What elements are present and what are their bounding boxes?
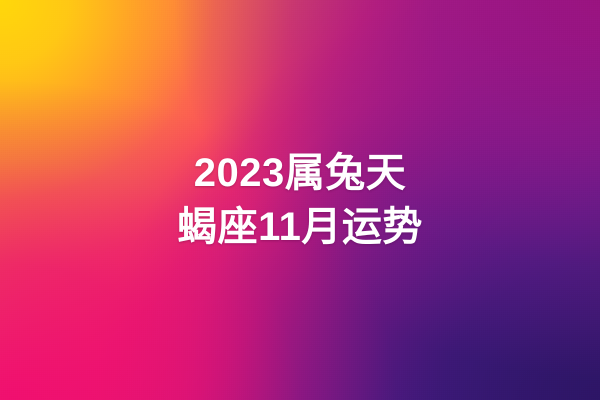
gradient-banner: 2023属兔天 蝎座11月运势 bbox=[0, 0, 600, 400]
banner-title-line-1: 2023属兔天 bbox=[194, 146, 406, 200]
banner-title-line-2: 蝎座11月运势 bbox=[177, 200, 423, 254]
banner-title-block: 2023属兔天 蝎座11月运势 bbox=[0, 0, 600, 400]
